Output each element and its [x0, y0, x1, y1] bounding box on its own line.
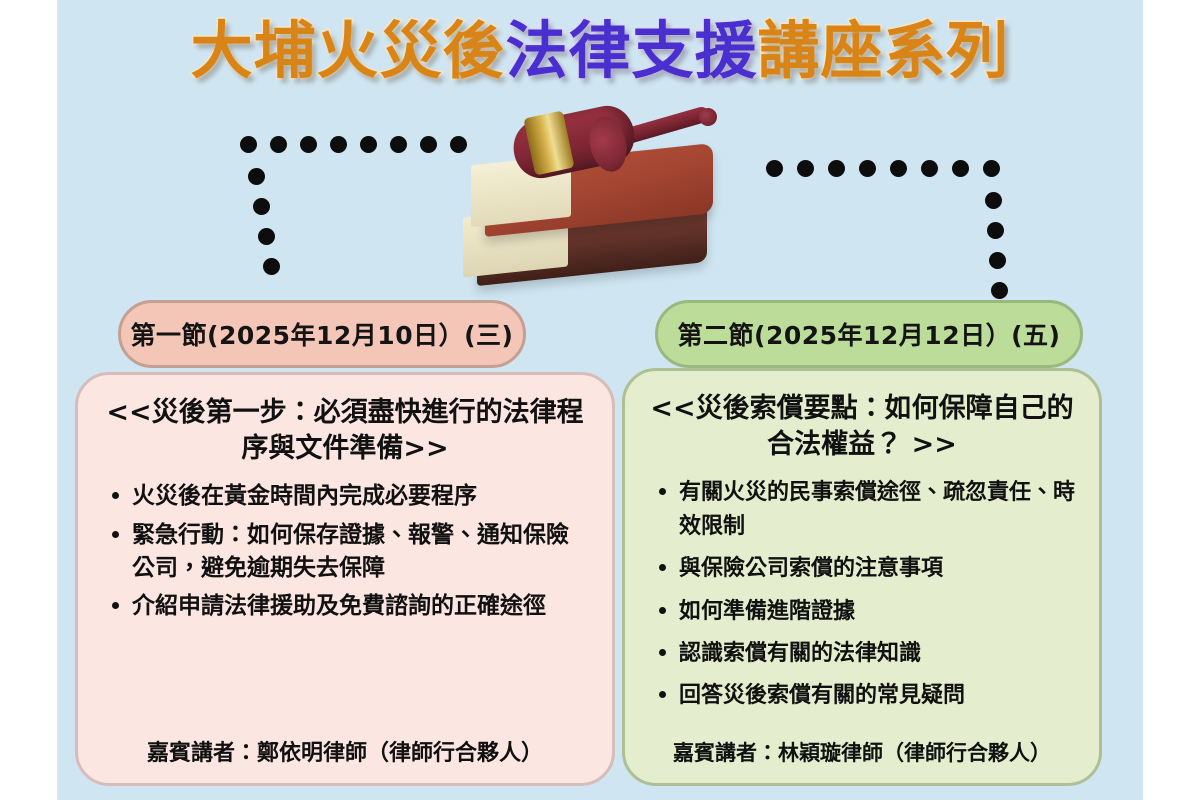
decorative-dot — [921, 160, 938, 177]
list-item: 如何準備進階證據 — [653, 595, 1075, 629]
decorative-dot — [330, 136, 347, 153]
decorative-dot — [797, 160, 814, 177]
list-item: 火災後在黃金時間內完成必要程序 — [106, 480, 588, 513]
decorative-dot — [270, 136, 287, 153]
decorative-dot — [766, 160, 783, 177]
decorative-dot — [989, 252, 1006, 269]
decorative-dot — [828, 160, 845, 177]
list-item: 有關火災的民事索償途徑、疏忽責任、時效限制 — [653, 476, 1075, 544]
decorative-dot — [985, 192, 1002, 209]
list-item: 介紹申請法律援助及免費諮詢的正確途徑 — [106, 590, 588, 623]
decorative-dot — [987, 222, 1004, 239]
list-item: 回答災後索償有關的常見疑問 — [653, 679, 1075, 713]
session-2-header: 第二節(2025年12月12日）(五) — [655, 300, 1083, 368]
decorative-dot — [253, 198, 270, 215]
session-1-header: 第一節(2025年12月10日）(三) — [118, 300, 526, 368]
gavel-on-books-illustration — [455, 100, 725, 295]
decorative-dot — [450, 136, 467, 153]
session-1-card: <<災後第一步：必須盡快進行的法律程序與文件準備>> 火災後在黃金時間內完成必要… — [75, 372, 615, 786]
decorative-dot — [300, 136, 317, 153]
session-2-header-label: 第二節(2025年12月12日）(五) — [678, 316, 1061, 352]
decorative-dot — [263, 258, 280, 275]
session-1-title: <<災後第一步：必須盡快進行的法律程序與文件準備>> — [102, 395, 588, 466]
title-part-3: 講座系列 — [758, 20, 1010, 82]
decorative-dot — [240, 136, 257, 153]
session-2-card: <<災後索償要點：如何保障自己的合法權益？ >> 有關火災的民事索償途徑、疏忽責… — [622, 368, 1102, 786]
decorative-dot — [890, 160, 907, 177]
decorative-dot — [248, 168, 265, 185]
decorative-dot — [991, 282, 1008, 299]
session-1-header-label: 第一節(2025年12月10日）(三) — [131, 316, 514, 352]
title-part-1: 大埔火災後 — [190, 20, 505, 82]
list-item: 認識索償有關的法律知識 — [653, 637, 1075, 671]
decorative-dot — [360, 136, 377, 153]
session-2-bullet-list: 有關火災的民事索償途徑、疏忽責任、時效限制 與保險公司索償的注意事項 如何準備進… — [649, 476, 1075, 737]
poster-title: 大埔火災後法律支援講座系列 — [57, 8, 1143, 94]
decorative-dot — [258, 228, 275, 245]
session-2-speaker: 嘉賓講者：林穎璇律師（律師行合夥人） — [649, 737, 1075, 773]
decorative-dot — [420, 136, 437, 153]
list-item: 與保險公司索償的注意事項 — [653, 552, 1075, 586]
decorative-dot — [390, 136, 407, 153]
poster-root: 大埔火災後法律支援講座系列 第一節(2025年12月10日）(三) — [0, 0, 1200, 800]
session-1-speaker: 嘉賓講者：鄭依明律師（律師行合夥人） — [102, 735, 588, 773]
title-part-2: 法律支援 — [505, 20, 757, 82]
decorative-dot — [859, 160, 876, 177]
decorative-dot — [983, 160, 1000, 177]
decorative-dot — [952, 160, 969, 177]
list-item: 緊急行動：如何保存證據、報警、通知保險公司，避免逾期失去保障 — [106, 519, 588, 584]
session-1-bullet-list: 火災後在黃金時間內完成必要程序 緊急行動：如何保存證據、報警、通知保險公司，避免… — [102, 480, 588, 735]
session-2-title: <<災後索償要點：如何保障自己的合法權益？ >> — [649, 391, 1075, 462]
